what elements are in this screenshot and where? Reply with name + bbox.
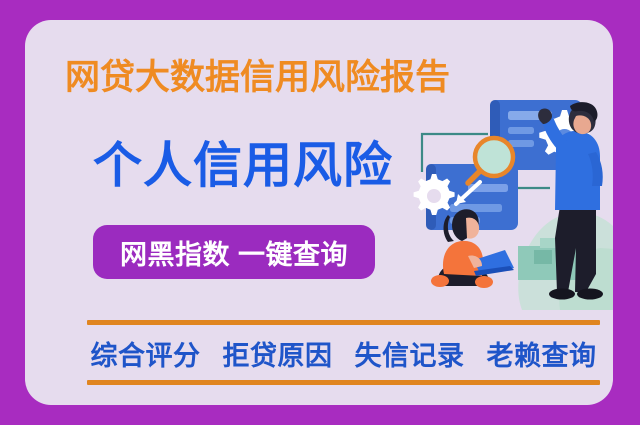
page-title: 网贷大数据信用风险报告 [65,60,450,95]
footer-link-score[interactable]: 综合评分 [91,334,201,373]
query-cta-button[interactable]: 网黑指数 一键查询 [93,225,375,279]
footer-link-reject-reason[interactable]: 拒贷原因 [223,334,333,373]
query-cta-label: 网黑指数 一键查询 [120,233,348,272]
banner-card: 网贷大数据信用风险报告 个人信用风险 网黑指数 一键查询 综合评分 拒贷原因 失… [25,20,613,405]
promo-banner: 网贷大数据信用风险报告 个人信用风险 网黑指数 一键查询 综合评分 拒贷原因 失… [0,0,640,425]
credit-risk-illustration [410,78,613,310]
footer-link-default-record[interactable]: 失信记录 [355,334,465,373]
footer-link-row: 综合评分 拒贷原因 失信记录 老赖查询 [87,330,600,376]
gear-small-icon [414,174,455,215]
divider-bottom [87,380,600,385]
divider-top [87,320,600,325]
headline: 个人信用风险 [93,142,393,191]
footer-link-debtor-query[interactable]: 老赖查询 [487,334,597,373]
